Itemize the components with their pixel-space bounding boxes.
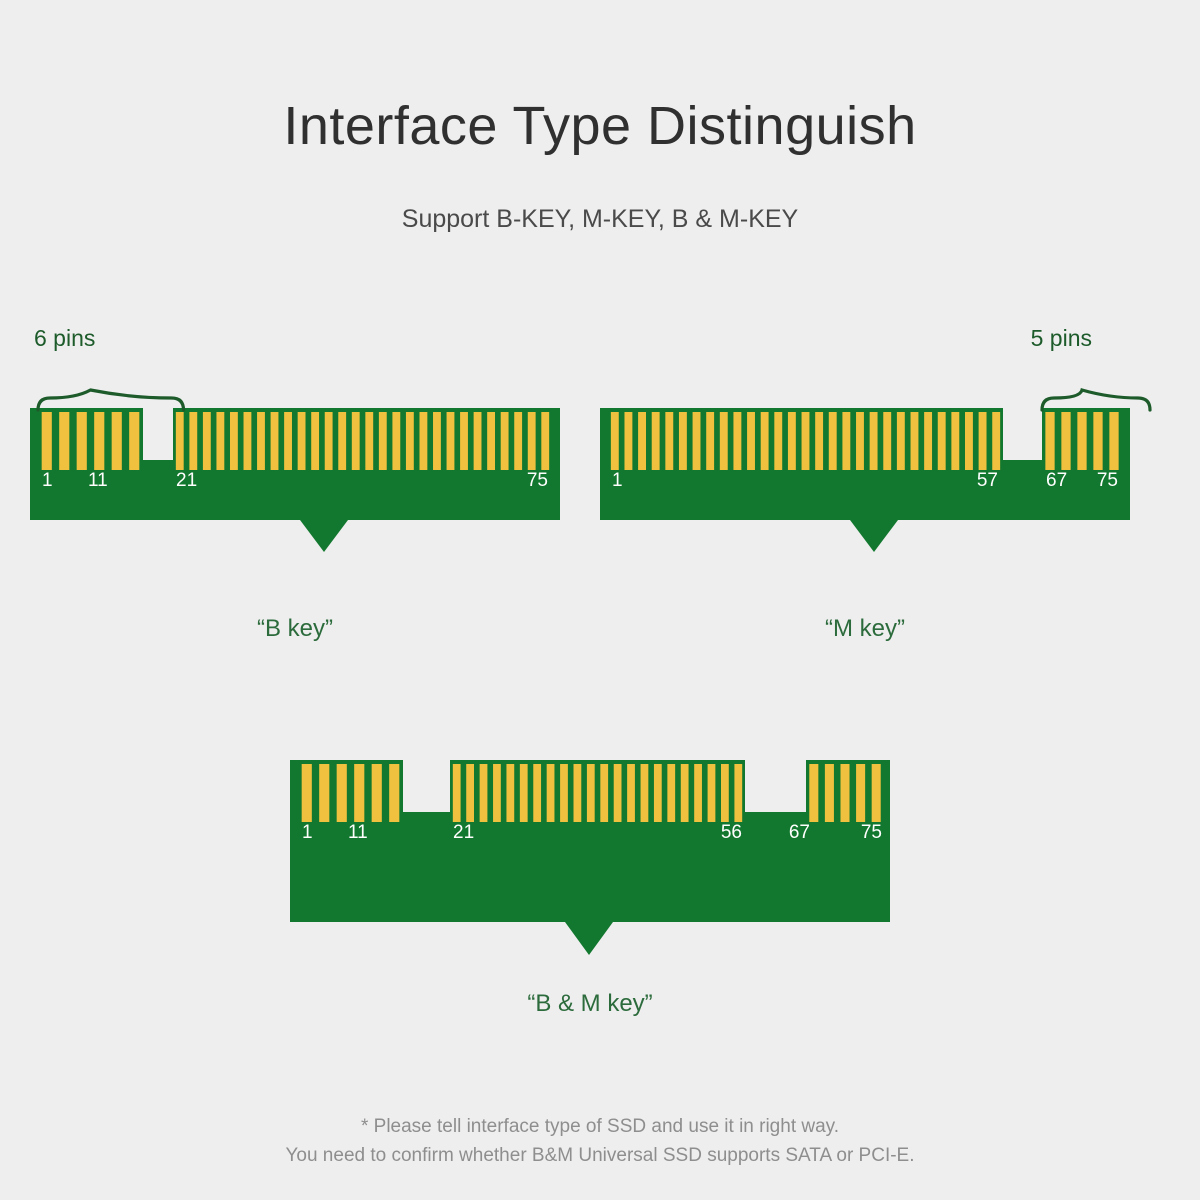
board-svg-b-key: 1112175 <box>30 370 560 560</box>
pins-note-m-key: 5 pins <box>1031 325 1092 352</box>
pin-group-left-segment <box>611 412 1000 470</box>
pin-pad <box>460 412 468 470</box>
pin-pad <box>520 764 528 822</box>
pin-pad <box>406 412 414 470</box>
pin-pad <box>311 412 319 470</box>
pin-pad <box>721 764 729 822</box>
board-m-key: 5 pins 1576775 “M key” <box>600 370 1130 560</box>
pin-pad <box>42 412 52 470</box>
pin-pad <box>654 764 662 822</box>
pin-number-label: 67 <box>1046 470 1067 491</box>
pin-pad <box>230 412 238 470</box>
pin-pad <box>528 412 536 470</box>
pin-pad <box>587 764 595 822</box>
pin-pad <box>856 764 865 822</box>
footer-line-2: You need to confirm whether B&M Universa… <box>0 1141 1200 1170</box>
pin-pad <box>720 412 728 470</box>
pin-pad <box>911 412 919 470</box>
page-subtitle: Support B-KEY, M-KEY, B & M-KEY <box>0 205 1200 234</box>
pin-pad <box>365 412 373 470</box>
pin-pad <box>59 412 69 470</box>
pin-pad <box>693 412 701 470</box>
pin-pad <box>1061 412 1070 470</box>
pin-pad <box>1045 412 1054 470</box>
pin-pad <box>506 764 514 822</box>
pin-number-label: 75 <box>861 822 882 843</box>
pin-pad <box>992 412 1000 470</box>
pins-note-b-key: 6 pins <box>34 325 95 352</box>
pin-pad <box>829 412 837 470</box>
footer-line-1: * Please tell interface type of SSD and … <box>0 1112 1200 1141</box>
pin-pad <box>189 412 197 470</box>
pin-number-label: 56 <box>721 822 742 843</box>
pin-pad <box>337 764 347 822</box>
pin-pad <box>856 412 864 470</box>
pin-pad <box>319 764 329 822</box>
pin-pad <box>624 412 632 470</box>
pin-pad <box>1093 412 1102 470</box>
pin-pad <box>842 412 850 470</box>
pin-number-label: 11 <box>348 822 368 843</box>
caption-m-key: “M key” <box>600 615 1130 643</box>
pin-pad <box>447 412 455 470</box>
pin-pad <box>825 764 834 822</box>
pin-pad <box>298 412 306 470</box>
diagram-canvas: Interface Type Distinguish Support B-KEY… <box>0 0 1200 1200</box>
pin-pad <box>129 412 139 470</box>
pin-pad <box>708 764 716 822</box>
pin-pad <box>560 764 568 822</box>
pin-pad <box>870 412 878 470</box>
pin-pad <box>379 412 387 470</box>
pin-pad <box>761 412 769 470</box>
board-bm-key: 11121566775 “B & M key” <box>290 750 890 960</box>
pin-number-label: 1 <box>302 822 313 843</box>
pin-pad <box>638 412 646 470</box>
pin-pad <box>1109 412 1118 470</box>
pin-pad <box>840 764 849 822</box>
pin-pad <box>77 412 87 470</box>
caption-bm-key: “B & M key” <box>290 990 890 1018</box>
pin-pad <box>747 412 755 470</box>
pin-pad <box>474 412 482 470</box>
pin-pad <box>802 412 810 470</box>
pin-number-label: 57 <box>977 470 998 491</box>
pin-pad <box>652 412 660 470</box>
pin-pad <box>809 764 818 822</box>
pin-pad <box>733 412 741 470</box>
board-svg-bm-key: 11121566775 <box>290 750 890 960</box>
pin-pad <box>614 764 622 822</box>
pin-number-label: 21 <box>453 822 474 843</box>
pin-number-label: 21 <box>176 470 197 491</box>
pin-pad <box>392 412 400 470</box>
pin-pad <box>897 412 905 470</box>
pin-pad <box>681 764 689 822</box>
pin-pad <box>271 412 279 470</box>
pin-pad <box>815 412 823 470</box>
pin-pad <box>627 764 635 822</box>
pin-number-label: 75 <box>527 470 548 491</box>
pin-pad <box>665 412 673 470</box>
pin-pad <box>788 412 796 470</box>
pin-pad <box>938 412 946 470</box>
pin-pad <box>466 764 474 822</box>
pin-group-brace-icon <box>1042 390 1150 410</box>
pin-pad <box>541 412 549 470</box>
pin-pad <box>487 412 495 470</box>
pin-number-label: 1 <box>612 470 623 491</box>
pin-pad <box>257 412 265 470</box>
pin-pad <box>372 764 382 822</box>
pin-pad <box>774 412 782 470</box>
pin-pad <box>706 412 714 470</box>
pin-pad <box>216 412 224 470</box>
pin-pad <box>979 412 987 470</box>
pin-number-label: 67 <box>789 822 810 843</box>
pin-pad <box>480 764 488 822</box>
pin-pad <box>433 412 441 470</box>
pin-pad <box>872 764 881 822</box>
pin-pad <box>667 764 675 822</box>
pin-pad <box>951 412 959 470</box>
pin-pad <box>389 764 399 822</box>
board-b-key: 6 pins 1112175 “B key” <box>30 370 560 560</box>
pin-pad <box>501 412 509 470</box>
pin-pad <box>203 412 211 470</box>
pin-pad <box>419 412 427 470</box>
pin-group-brace-icon <box>38 390 184 410</box>
pin-pad <box>574 764 582 822</box>
pin-pad <box>611 412 619 470</box>
pin-pad <box>600 764 608 822</box>
pin-pad <box>679 412 687 470</box>
pin-pad <box>493 764 501 822</box>
caption-b-key: “B key” <box>30 615 560 643</box>
pin-pad <box>244 412 252 470</box>
pin-pad <box>302 764 312 822</box>
pin-pad <box>284 412 292 470</box>
pin-pad <box>924 412 932 470</box>
pin-pad <box>533 764 541 822</box>
pin-pad <box>112 412 122 470</box>
pin-pad <box>694 764 702 822</box>
pin-pad <box>453 764 461 822</box>
pin-pad <box>514 412 522 470</box>
pin-pad <box>641 764 649 822</box>
board-svg-m-key: 1576775 <box>600 370 1130 560</box>
pin-pad <box>354 764 364 822</box>
pin-pad <box>176 412 184 470</box>
pin-pad <box>325 412 333 470</box>
pin-pad <box>1077 412 1086 470</box>
pin-pad <box>352 412 360 470</box>
footer-note: * Please tell interface type of SSD and … <box>0 1112 1200 1171</box>
pin-pad <box>734 764 742 822</box>
pin-number-label: 1 <box>42 470 53 491</box>
pin-pad <box>338 412 346 470</box>
pin-pad <box>547 764 555 822</box>
pin-pad <box>965 412 973 470</box>
pin-pad <box>883 412 891 470</box>
pin-pad <box>94 412 104 470</box>
pin-number-label: 75 <box>1097 470 1118 491</box>
page-title: Interface Type Distinguish <box>0 95 1200 157</box>
pin-number-label: 11 <box>88 470 108 491</box>
